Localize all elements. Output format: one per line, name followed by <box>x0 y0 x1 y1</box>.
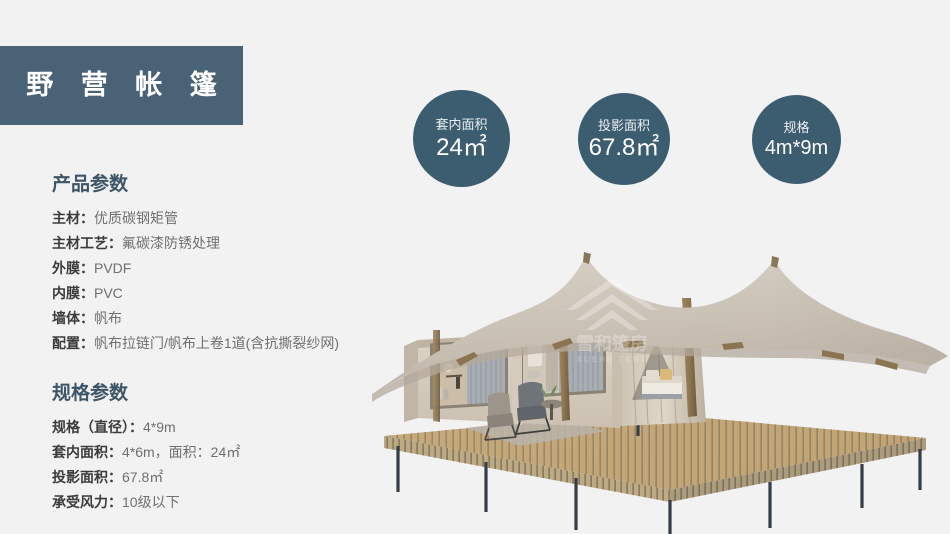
spec-label: 配置： <box>52 335 94 351</box>
badge-indoor-area: 套内面积 24㎡ <box>413 90 510 187</box>
spec-value: 帆布拉链门/帆布上卷1道(含抗撕裂纱网) <box>94 335 339 351</box>
badge-label: 套内面积 <box>435 117 487 133</box>
section-heading-spec: 规格参数 <box>52 383 240 406</box>
tent-product-image: 雪和篷房 XUEHE TENT <box>370 190 950 534</box>
spec-value: 10级以下 <box>122 494 180 510</box>
badge-value: 4m*9m <box>765 138 828 159</box>
spec-row: 规格（直径）：4*9m <box>52 415 240 440</box>
badge-label: 规格 <box>783 120 809 136</box>
spec-value: PVC <box>94 285 123 301</box>
product-parameters-section: 产品参数 主材：优质碳钢矩管 主材工艺：氟碳漆防锈处理 外膜：PVDF 内膜：P… <box>52 174 339 356</box>
spec-label: 主材工艺： <box>52 235 122 251</box>
spec-row: 套内面积：4*6m，面积：24㎡ <box>52 440 240 465</box>
spec-label: 内膜： <box>52 285 94 301</box>
badge-label: 投影面积 <box>598 118 650 134</box>
specification-parameters-list: 规格（直径）：4*9m 套内面积：4*6m，面积：24㎡ 投影面积：67.8㎡ … <box>52 415 240 515</box>
spec-label: 规格（直径）： <box>52 419 143 435</box>
badge-projected-area: 投影面积 67.8㎡ <box>578 93 670 185</box>
spec-label: 承受风力： <box>52 494 122 510</box>
spec-label: 投影面积： <box>52 469 122 485</box>
spec-row: 外膜：PVDF <box>52 256 339 281</box>
spec-row: 内膜：PVC <box>52 281 339 306</box>
product-spec-page: 野 营 帐 篷 产品参数 主材：优质碳钢矩管 主材工艺：氟碳漆防锈处理 外膜：P… <box>0 0 950 534</box>
spec-value: 优质碳钢矩管 <box>94 210 178 226</box>
spec-label: 墙体： <box>52 310 94 326</box>
specification-parameters-section: 规格参数 规格（直径）：4*9m 套内面积：4*6m，面积：24㎡ 投影面积：6… <box>52 383 240 515</box>
spec-row: 投影面积：67.8㎡ <box>52 465 240 490</box>
spec-label: 外膜： <box>52 260 94 276</box>
spec-row: 墙体：帆布 <box>52 306 339 331</box>
canopy-peak-tips <box>583 252 779 268</box>
badge-value: 67.8㎡ <box>589 135 660 160</box>
product-parameters-list: 主材：优质碳钢矩管 主材工艺：氟碳漆防锈处理 外膜：PVDF 内膜：PVC 墙体… <box>52 206 339 356</box>
watermark-primary-text: 雪和篷房 <box>576 333 648 354</box>
watermark-secondary-text: XUEHE TENT <box>577 355 648 364</box>
deck-platform <box>384 412 926 534</box>
title-banner: 野 营 帐 篷 <box>0 46 243 125</box>
spec-row: 主材工艺：氟碳漆防锈处理 <box>52 231 339 256</box>
spec-value: 氟碳漆防锈处理 <box>122 235 220 251</box>
spec-value: 67.8㎡ <box>122 469 163 485</box>
page-title: 野 营 帐 篷 <box>16 72 227 99</box>
spec-value: 4*6m，面积：24㎡ <box>122 444 240 460</box>
spec-row: 承受风力：10级以下 <box>52 490 240 515</box>
spec-label: 套内面积： <box>52 444 122 460</box>
spec-value: PVDF <box>94 260 131 276</box>
badge-value: 24㎡ <box>436 135 487 160</box>
spec-row: 主材：优质碳钢矩管 <box>52 206 339 231</box>
spec-label: 主材： <box>52 210 94 226</box>
spec-value: 4*9m <box>143 419 176 435</box>
badge-dimensions: 规格 4m*9m <box>752 95 841 184</box>
spec-value: 帆布 <box>94 310 122 326</box>
spec-row: 配置：帆布拉链门/帆布上卷1道(含抗撕裂纱网) <box>52 331 339 356</box>
section-heading-product: 产品参数 <box>52 174 339 197</box>
